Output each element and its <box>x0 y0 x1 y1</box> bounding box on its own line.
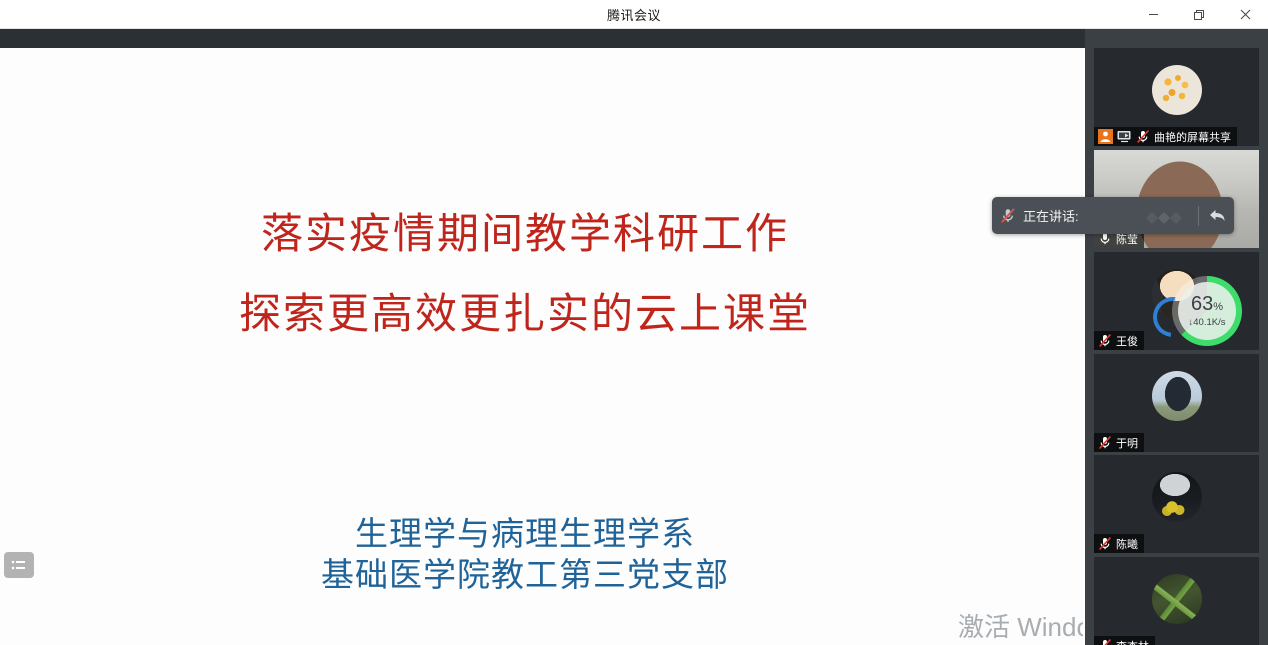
meeting-content: 落实疫情期间教学科研工作 探索更高效更扎实的云上课堂 生理学与病理生理学系 基础… <box>0 29 1268 645</box>
participant-name: 曲艳的屏幕共享 <box>1154 129 1231 145</box>
mic-muted-icon <box>1000 207 1016 224</box>
participant-tile-4[interactable]: 陈曦 <box>1094 455 1259 553</box>
tencent-meeting-window: 腾讯会议 <box>0 0 1268 645</box>
slide-title-line-1: 落实疫情期间教学科研工作 <box>0 213 1050 255</box>
participant-namebar: 于明 <box>1094 433 1144 452</box>
network-percent-unit: % <box>1213 301 1223 313</box>
participant-avatar <box>1152 65 1202 115</box>
slide-title-line-2: 探索更高效更扎实的云上课堂 <box>0 293 1050 335</box>
restore-button[interactable] <box>1176 0 1222 29</box>
slide-outline-button[interactable] <box>4 552 34 578</box>
list-icon <box>11 559 27 572</box>
restore-icon <box>1193 9 1205 21</box>
toast-divider <box>1198 206 1199 226</box>
participant-name: 陈曦 <box>1116 536 1138 552</box>
participant-avatar <box>1152 371 1202 421</box>
shared-screen-slide: 落实疫情期间教学科研工作 探索更高效更扎实的云上课堂 生理学与病理生理学系 基础… <box>0 48 1083 645</box>
mic-muted-icon <box>1098 638 1112 645</box>
speaking-toast[interactable]: 正在讲话: <box>992 197 1234 234</box>
close-icon <box>1240 9 1251 20</box>
mic-muted-icon <box>1098 435 1112 450</box>
chevron-icons <box>1144 208 1188 224</box>
speaking-label: 正在讲话: <box>1023 206 1079 225</box>
title-bar: 腾讯会议 <box>0 0 1268 29</box>
windows-activation-watermark: 激活 Windows 转到"设置"以激活 Windows。 <box>958 613 1083 645</box>
participant-namebar: 曲艳的屏幕共享 <box>1094 127 1237 146</box>
participant-name: 李杏林 <box>1116 638 1149 645</box>
close-button[interactable] <box>1222 0 1268 29</box>
mic-muted-icon <box>1136 129 1150 144</box>
person-orange-icon <box>1098 129 1113 144</box>
participant-name: 王俊 <box>1116 333 1138 349</box>
screen-share-icon <box>1117 130 1132 143</box>
network-percent: 63% <box>1191 294 1223 314</box>
slide-subtitle-line-1: 生理学与病理生理学系 <box>0 513 1050 554</box>
network-progress-badge: 63% ↓40.1K/s <box>1172 276 1242 346</box>
minimize-icon <box>1148 9 1159 20</box>
minimize-button[interactable] <box>1130 0 1176 29</box>
window-title: 腾讯会议 <box>607 5 661 24</box>
participant-tile-5[interactable]: 李杏林 <box>1094 557 1259 645</box>
window-controls <box>1130 0 1268 29</box>
slide-subtitle: 生理学与病理生理学系 基础医学院教工第三党支部 <box>0 513 1050 596</box>
participant-tile-0[interactable]: 曲艳的屏幕共享 <box>1094 48 1259 146</box>
network-percent-value: 63 <box>1191 293 1213 315</box>
participant-namebar: 王俊 <box>1094 331 1144 350</box>
participant-namebar: 李杏林 <box>1094 636 1155 645</box>
mic-muted-icon <box>1098 333 1112 348</box>
reply-arrow-icon[interactable] <box>1209 208 1226 223</box>
watermark-line-1: 激活 Windows <box>958 613 1083 642</box>
participant-name: 于明 <box>1116 435 1138 451</box>
screenshare-top-strip <box>0 29 1085 48</box>
participant-avatar <box>1152 574 1202 624</box>
slide-subtitle-line-2: 基础医学院教工第三党支部 <box>0 554 1050 595</box>
slide-title: 落实疫情期间教学科研工作 探索更高效更扎实的云上课堂 <box>0 213 1050 335</box>
participant-avatar <box>1152 472 1202 522</box>
participant-tile-3[interactable]: 于明 <box>1094 354 1259 452</box>
network-rate: ↓40.1K/s <box>1189 317 1226 328</box>
participant-namebar: 陈曦 <box>1094 534 1144 553</box>
mic-muted-icon <box>1098 536 1112 551</box>
